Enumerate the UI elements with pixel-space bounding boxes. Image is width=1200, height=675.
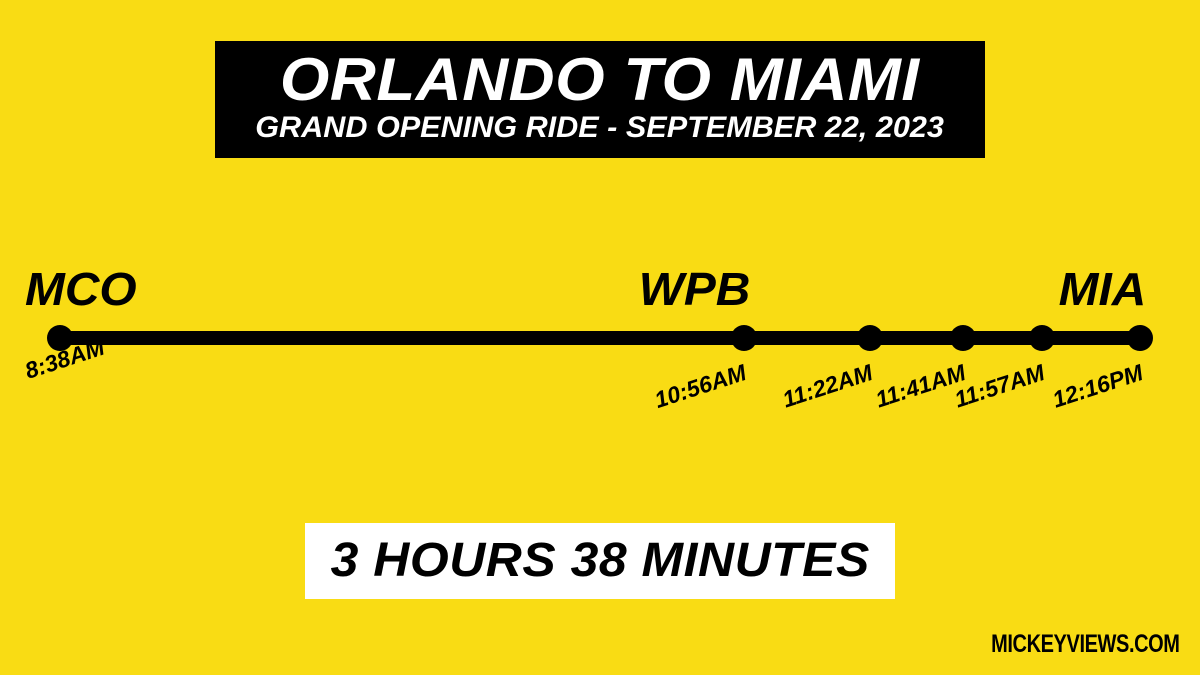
stop-code-label: WPB [638, 266, 750, 312]
total-duration-label: 3 HOURS 38 MINUTES [330, 536, 869, 586]
stop-dot-icon [1029, 325, 1055, 351]
stop-code-label: MIA [1058, 266, 1146, 312]
stop-dot-icon [950, 325, 976, 351]
title-block: ORLANDO TO MIAMI GRAND OPENING RIDE - SE… [215, 41, 985, 158]
duration-banner: 3 HOURS 38 MINUTES [305, 523, 895, 599]
stop-dot-icon [1127, 325, 1153, 351]
stop-time-label: 11:57AM [952, 360, 1048, 412]
page-title: ORLANDO TO MIAMI [280, 50, 920, 110]
page-subtitle: GRAND OPENING RIDE - SEPTEMBER 22, 2023 [256, 112, 945, 144]
stop-dot-icon [731, 325, 757, 351]
stop-time-label: 11:22AM [780, 360, 876, 412]
timeline-rail [60, 331, 1140, 345]
watermark: MICKEYVIEWS.COM [992, 631, 1180, 657]
stop-dot-icon [857, 325, 883, 351]
stop-time-label: 12:16PM [1049, 360, 1145, 412]
route-timeline: MCO8:38AMWPB10:56AM11:22AM11:41AM11:57AM… [0, 240, 1200, 440]
stop-time-label: 10:56AM [652, 360, 749, 412]
stop-code-label: MCO [25, 266, 137, 312]
infographic-poster: ORLANDO TO MIAMI GRAND OPENING RIDE - SE… [0, 0, 1200, 675]
